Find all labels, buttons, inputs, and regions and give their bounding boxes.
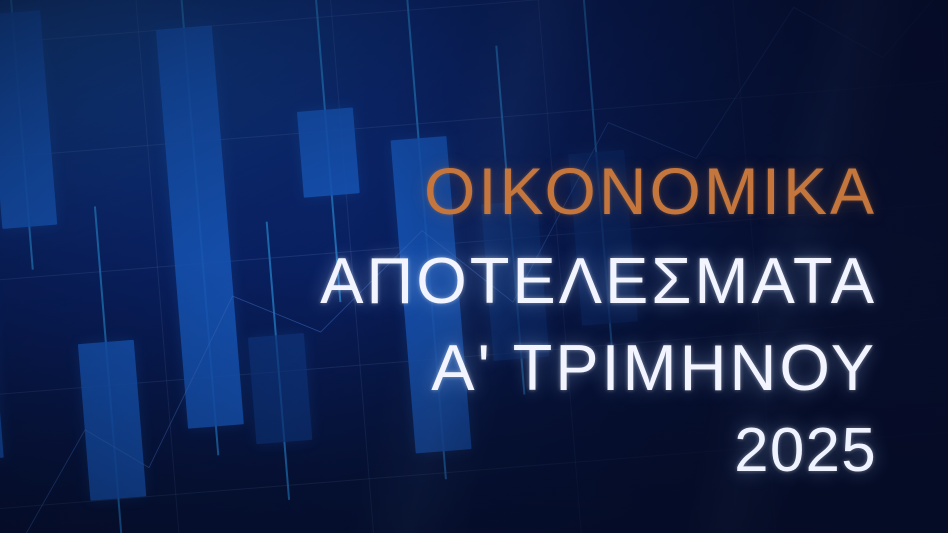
headline-line-2: ΑΠΟΤΕΛΕΣΜΑΤΑ — [320, 248, 877, 313]
headline-year: 2025 — [320, 420, 877, 482]
headline-block: ΟΙΚΟΝΟΜΙΚΑ ΑΠΟΤΕΛΕΣΜΑΤΑ Α' ΤΡΙΜΗΝΟΥ 2025 — [320, 158, 877, 482]
headline-line-3: Α' ΤΡΙΜΗΝΟΥ — [320, 335, 877, 400]
title-card-canvas: ΟΙΚΟΝΟΜΙΚΑ ΑΠΟΤΕΛΕΣΜΑΤΑ Α' ΤΡΙΜΗΝΟΥ 2025 — [0, 0, 948, 533]
headline-line-1: ΟΙΚΟΝΟΜΙΚΑ — [320, 158, 877, 224]
